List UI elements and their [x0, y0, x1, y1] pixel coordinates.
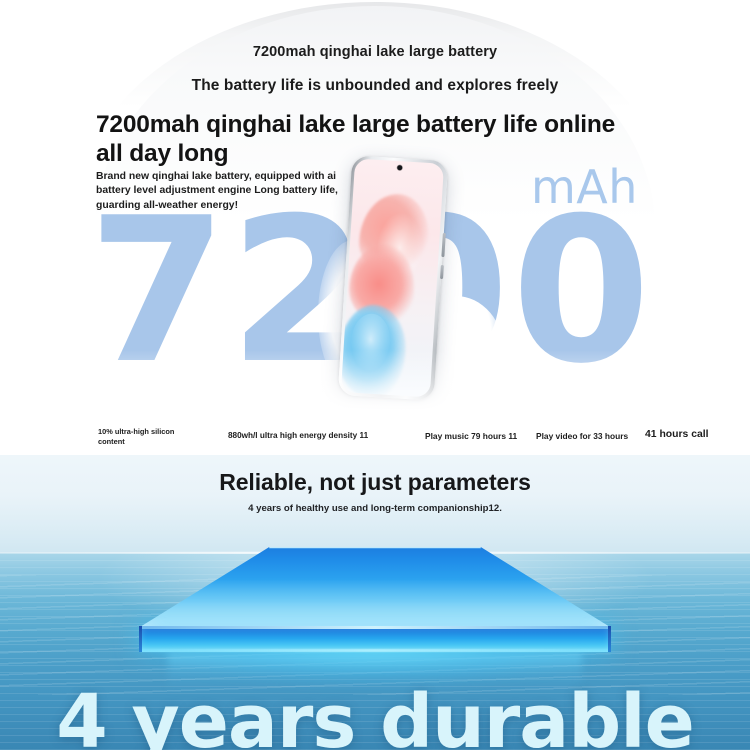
sub-eyebrow-text: The battery life is unbounded and explor…	[0, 77, 750, 95]
durability-section: Reliable, not just parameters 4 years of…	[0, 455, 750, 750]
glowing-platform-graphic	[140, 547, 610, 677]
watermark-capacity-unit: mAh	[531, 164, 638, 210]
platform-right-side	[608, 626, 611, 652]
stat-item: 880wh/l ultra high energy density 11	[228, 431, 368, 440]
battery-feature-section: 7200mah qinghai lake large battery The b…	[0, 0, 750, 455]
product-promo-page: 7200mah qinghai lake large battery The b…	[0, 0, 750, 750]
watermark-fade-overlay	[0, 350, 750, 435]
section-subtitle: 4 years of healthy use and long-term com…	[0, 503, 750, 514]
platform-top-sheen	[140, 547, 610, 627]
stat-item: 10% ultra-high silicon content	[98, 427, 194, 446]
durability-hero-text: 4 years durable	[0, 684, 750, 750]
stat-item: Play music 79 hours 11	[425, 431, 517, 441]
battery-stats-row: 10% ultra-high silicon content 880wh/l u…	[0, 427, 750, 453]
section-title: Reliable, not just parameters	[0, 469, 750, 496]
eyebrow-text: 7200mah qinghai lake large battery	[0, 44, 750, 60]
stat-item: 41 hours call	[645, 429, 709, 440]
platform-left-side	[139, 626, 142, 652]
platform-front-lip	[140, 626, 610, 629]
stat-item: Play video for 33 hours	[536, 431, 628, 441]
